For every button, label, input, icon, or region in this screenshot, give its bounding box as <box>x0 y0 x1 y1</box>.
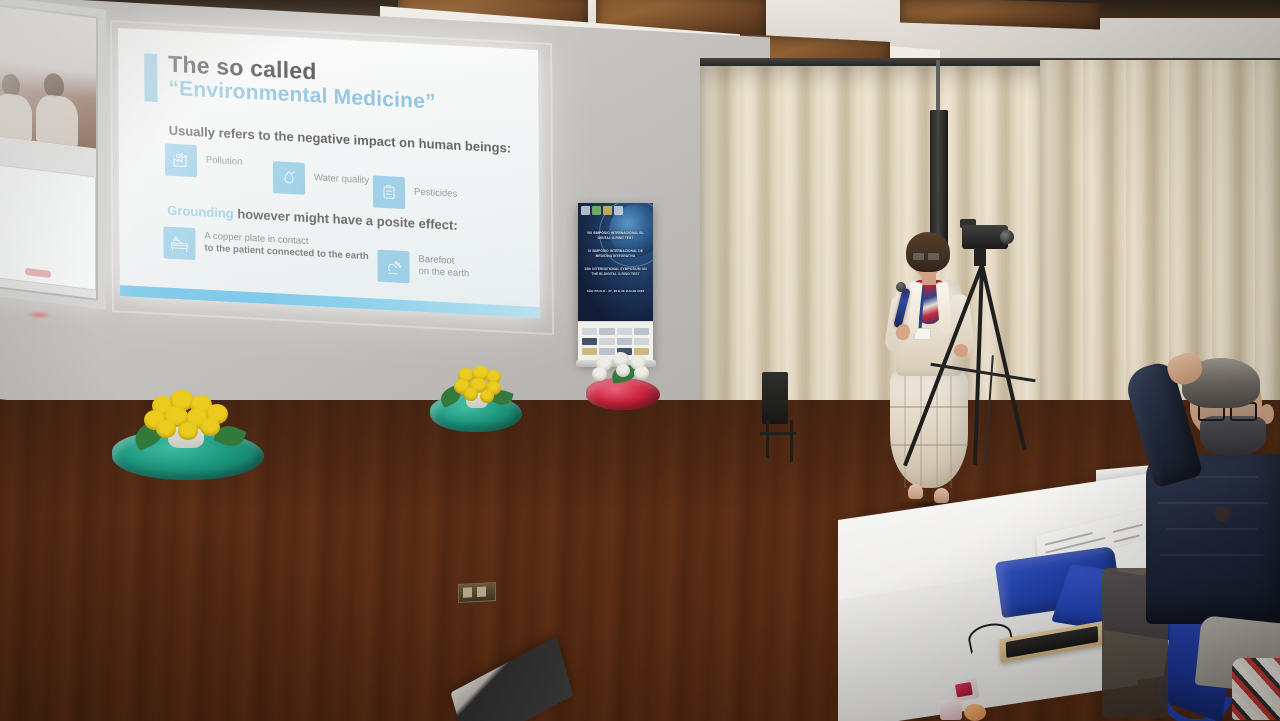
banner-line2: IX SIMPÓSIO INTERNACIONAL DE MEDICINA IN… <box>582 249 649 258</box>
conference-room-photo: The so called “Environmental Medicine” U… <box>0 0 1280 721</box>
face-mask <box>1200 416 1266 456</box>
banner-line4: SÃO PAULO · 27, 28 E 29 JULHO 2023 <box>582 289 649 293</box>
slide-item-label: Pollution <box>206 155 243 169</box>
speaker-hanger <box>936 60 940 115</box>
secondary-monitor <box>0 0 106 310</box>
camcorder-on-tripod <box>952 225 1082 485</box>
barefoot-icon <box>377 250 409 284</box>
banner-header: VIII SIMPÓSIO INTERNACIONAL BI-DIGITAL O… <box>578 203 653 321</box>
candy-wrapper <box>940 700 962 720</box>
monitor-glare <box>0 0 106 310</box>
slide-item-label: Pesticides <box>414 187 457 201</box>
banner-line1: VIII SIMPÓSIO INTERNACIONAL BI-DIGITAL O… <box>582 231 649 240</box>
presenter-shoe-left <box>908 484 923 499</box>
jacket-button <box>1214 506 1230 522</box>
slide-item-label-line2: on the earth <box>419 266 470 281</box>
chair-crossbar <box>760 432 796 435</box>
copper-plate-bed-icon <box>163 226 195 260</box>
water-drop-icon <box>273 161 305 195</box>
camera-lens-icon <box>1000 230 1014 244</box>
floor-power-outlet <box>458 582 496 603</box>
presenter-shoe-right <box>934 488 949 503</box>
factory-pollution-icon <box>165 143 197 177</box>
eyeglasses-icon <box>912 252 942 260</box>
barefoot-labels: Barefoot on the earth <box>409 251 469 280</box>
back-chair <box>762 372 788 424</box>
slide-item-barefoot: Barefoot on the earth <box>377 250 469 287</box>
sponsor-logo-grid <box>582 328 649 355</box>
seated-attendee <box>1120 358 1280 721</box>
copper-plate-labels: A copper plate in contact to the patient… <box>195 228 368 263</box>
chair-leg <box>790 420 793 462</box>
grounding-word: Grounding <box>167 203 234 221</box>
projector-indicator-light <box>26 311 52 319</box>
patterned-garment <box>1232 658 1280 720</box>
slide-item-label: Water quality <box>314 172 369 187</box>
tripod-leg <box>973 265 984 465</box>
bouquet-white-right <box>586 352 660 410</box>
bouquet-yellow-left <box>112 390 264 480</box>
banner-line3: 19th INTERNATIONAL SYMPOSIUM ON THE BI-D… <box>582 267 649 276</box>
chair-leg <box>766 420 769 458</box>
candy-wrapper <box>964 704 986 721</box>
slide-item-pesticides: Pesticides <box>373 175 458 211</box>
bouquet-yellow-center <box>430 366 522 432</box>
slide-accent-bar <box>144 53 157 102</box>
banner-logo-strip <box>581 206 623 215</box>
slide-item-pollution: Pollution <box>165 143 243 179</box>
presentation-slide: The so called “Environmental Medicine” U… <box>118 28 540 318</box>
slide-item-copper-plate: A copper plate in contact to the patient… <box>163 226 368 269</box>
event-rollup-banner: VIII SIMPÓSIO INTERNACIONAL BI-DIGITAL O… <box>578 203 653 363</box>
pesticide-spray-icon <box>373 175 405 209</box>
slide-item-water-quality: Water quality <box>273 161 369 198</box>
